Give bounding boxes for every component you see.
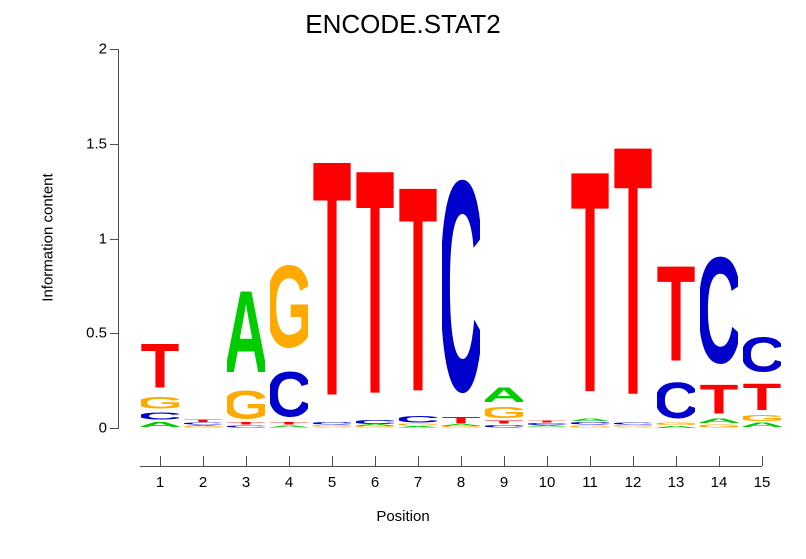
svg-text:C: C — [184, 422, 222, 425]
logo-letter-A-pos-9: A — [485, 383, 523, 404]
svg-text:T: T — [270, 421, 308, 425]
svg-text:T: T — [227, 421, 265, 425]
svg-text:C: C — [399, 414, 437, 423]
svg-text:T: T — [528, 421, 566, 424]
svg-text:C: C — [657, 373, 695, 422]
logo-letter-C-pos-1: C — [141, 410, 179, 420]
logo-letter-C-pos-13: C — [657, 371, 695, 422]
logo-letter-T-pos-8: T — [442, 415, 480, 424]
logo-letter-G-pos-5: G — [313, 425, 351, 427]
svg-text:T: T — [141, 332, 179, 393]
logo-letter-T-pos-13: T — [657, 235, 695, 371]
logo-letter-G-pos-9: G — [485, 403, 523, 419]
svg-text:C: C — [227, 425, 265, 428]
logo-letter-T-pos-7: T — [399, 121, 437, 414]
logo-letter-G-pos-8: G — [442, 426, 480, 428]
svg-text:G: G — [657, 422, 695, 425]
svg-text:G: G — [442, 427, 480, 428]
logo-letter-A-pos-6: A — [356, 424, 394, 426]
logo-letter-A-pos-3: A — [227, 265, 265, 382]
logo-letter-G-pos-4: G — [270, 240, 308, 357]
logo-letter-A-pos-11: A — [571, 417, 609, 422]
logo-letter-C-pos-8: C — [442, 113, 480, 414]
svg-text:T: T — [356, 103, 394, 419]
svg-text:A: A — [528, 425, 566, 426]
logo-letter-A-pos-14: A — [700, 417, 738, 424]
svg-text:C: C — [614, 422, 652, 425]
svg-text:T: T — [614, 72, 652, 422]
logo-letter-C-pos-3: C — [227, 425, 265, 428]
logo-letter-A-pos-10: A — [528, 425, 566, 427]
logo-letter-C-pos-11: C — [571, 421, 609, 425]
logo-letter-T-pos-6: T — [356, 98, 394, 418]
logo-letter-C-pos-7: C — [399, 414, 437, 423]
logo-letter-G-pos-13: G — [657, 422, 695, 425]
svg-text:G: G — [184, 427, 222, 428]
svg-text:A: A — [141, 421, 179, 428]
svg-text:T: T — [485, 420, 523, 425]
logo-letter-G-pos-14: G — [700, 423, 738, 428]
logo-letter-G-pos-10: G — [528, 427, 566, 428]
svg-text:A: A — [657, 426, 695, 428]
logo-letter-T-pos-14: T — [700, 375, 738, 417]
logo-letter-C-pos-5: C — [313, 421, 351, 425]
svg-text:G: G — [743, 413, 781, 421]
svg-text:C: C — [442, 119, 480, 414]
sequence-logo-figure: ENCODE.STAT2 Information content Positio… — [0, 0, 806, 559]
logo-letter-A-pos-13: A — [657, 426, 695, 428]
svg-text:T: T — [657, 237, 695, 371]
logo-letter-T-pos-10: T — [528, 420, 566, 423]
svg-text:T: T — [743, 376, 781, 412]
logo-letter-G-pos-2: G — [184, 426, 222, 428]
logo-letter-A-pos-1: A — [141, 420, 179, 428]
svg-text:C: C — [571, 421, 609, 425]
logo-letter-C-pos-12: C — [614, 422, 652, 425]
logo-letter-A-pos-2: A — [184, 425, 222, 427]
logo-letter-T-pos-5: T — [313, 85, 351, 421]
logo-letter-G-pos-7: G — [399, 423, 437, 426]
svg-text:A: A — [184, 425, 222, 427]
svg-text:C: C — [485, 424, 523, 428]
logo-letter-C-pos-9: C — [485, 424, 523, 428]
svg-text:C: C — [313, 421, 351, 425]
logo-letter-A-pos-4: A — [270, 425, 308, 428]
svg-text:A: A — [614, 427, 652, 428]
logo-letter-A-pos-7: A — [399, 426, 437, 428]
svg-text:G: G — [141, 393, 179, 410]
svg-text:A: A — [743, 421, 781, 428]
svg-text:T: T — [442, 415, 480, 424]
svg-text:C: C — [700, 226, 738, 375]
logo-letter-C-pos-6: C — [356, 419, 394, 425]
logo-letter-G-pos-11: G — [571, 425, 609, 428]
logo-letter-T-pos-4: T — [270, 421, 308, 425]
svg-text:A: A — [270, 425, 308, 428]
logo-letter-T-pos-12: T — [614, 66, 652, 422]
svg-text:G: G — [270, 242, 308, 357]
svg-text:G: G — [399, 423, 437, 426]
logo-letter-G-pos-6: G — [356, 426, 394, 428]
svg-text:T: T — [184, 419, 222, 422]
logo-letter-A-pos-12: A — [614, 427, 652, 428]
logo-letter-C-pos-2: C — [184, 422, 222, 425]
logo-letter-G-pos-12: G — [614, 425, 652, 427]
svg-text:C: C — [528, 423, 566, 425]
svg-text:C: C — [743, 328, 781, 375]
logo-letter-A-pos-8: A — [442, 424, 480, 426]
svg-text:G: G — [313, 425, 351, 427]
logo-letter-T-pos-2: T — [184, 419, 222, 422]
logo-letter-T-pos-1: T — [141, 329, 179, 392]
logo-letter-C-pos-4: C — [270, 357, 308, 421]
logo-letter-G-pos-3: G — [227, 382, 265, 422]
svg-text:A: A — [313, 427, 351, 428]
svg-text:A: A — [442, 424, 480, 426]
svg-text:G: G — [571, 425, 609, 428]
logo-letter-T-pos-11: T — [571, 100, 609, 416]
svg-text:C: C — [270, 358, 308, 422]
svg-text:A: A — [356, 424, 394, 426]
svg-text:A: A — [571, 417, 609, 422]
svg-text:C: C — [141, 410, 179, 420]
svg-text:G: G — [528, 427, 566, 428]
svg-text:C: C — [356, 419, 394, 425]
svg-text:A: A — [227, 267, 265, 382]
logo-stacks: ACGTGACTCTGAATCGAGCTGACTAGCTGATCCTGAGACT… — [0, 0, 806, 559]
svg-text:T: T — [571, 106, 609, 417]
logo-letter-G-pos-15: G — [743, 413, 781, 422]
svg-text:G: G — [356, 427, 394, 428]
svg-text:G: G — [700, 423, 738, 428]
logo-letter-T-pos-15: T — [743, 375, 781, 413]
svg-text:T: T — [313, 91, 351, 421]
logo-letter-C-pos-15: C — [743, 326, 781, 375]
svg-text:T: T — [700, 376, 738, 417]
svg-text:G: G — [227, 383, 265, 422]
logo-letter-T-pos-9: T — [485, 419, 523, 424]
svg-text:A: A — [399, 426, 437, 428]
logo-letter-C-pos-10: C — [528, 423, 566, 425]
logo-letter-A-pos-5: A — [313, 427, 351, 428]
logo-letter-G-pos-1: G — [141, 393, 179, 410]
logo-letter-A-pos-15: A — [743, 421, 781, 428]
logo-letter-C-pos-14: C — [700, 223, 738, 375]
svg-text:T: T — [399, 125, 437, 414]
svg-text:G: G — [614, 425, 652, 427]
svg-text:G: G — [485, 404, 523, 420]
svg-text:A: A — [485, 383, 523, 404]
logo-letter-T-pos-3: T — [227, 421, 265, 425]
svg-text:A: A — [700, 417, 738, 424]
